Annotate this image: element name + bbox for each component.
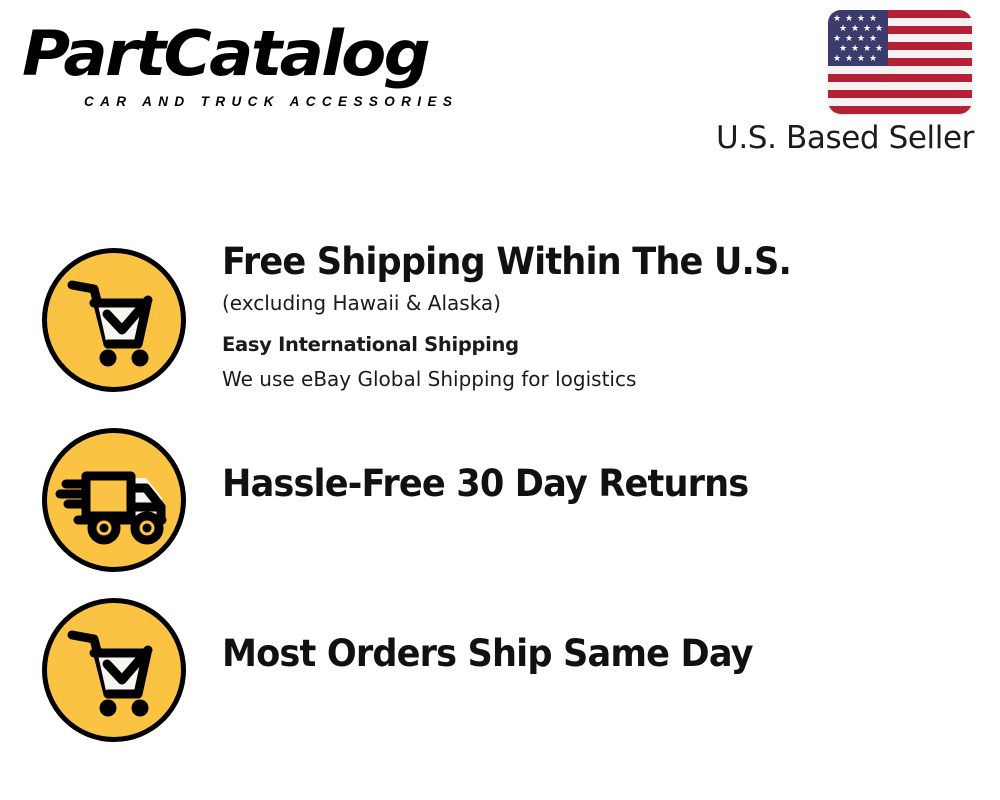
flag-canton: ★ ★ ★ ★ ★ ★ ★ ★ ★ ★ ★ ★ ★ ★ ★ ★ ★ ★ ★ ★ <box>828 10 888 66</box>
feature-subtitle: We use eBay Global Shipping for logistic… <box>222 364 1000 394</box>
brand-wordmark: PartCatalog <box>22 18 428 90</box>
shopping-cart-check-icon <box>42 598 186 742</box>
feature-row: Hassle-Free 30 Day Returns <box>0 410 1000 560</box>
brand-tagline: CAR AND TRUCK ACCESSORIES <box>84 94 458 109</box>
feature-text: Free Shipping Within The U.S. (excluding… <box>222 230 1000 394</box>
feature-icon <box>42 580 192 730</box>
feature-title: Free Shipping Within The U.S. <box>222 240 961 284</box>
feature-title: Most Orders Ship Same Day <box>222 632 961 676</box>
feature-text: Most Orders Ship Same Day <box>222 580 1000 676</box>
feature-subtitle-bold: Easy International Shipping <box>222 330 1000 360</box>
feature-row: Free Shipping Within The U.S. (excluding… <box>0 230 1000 394</box>
feature-icon <box>42 410 192 560</box>
feature-row: Most Orders Ship Same Day <box>0 580 1000 730</box>
delivery-truck-icon <box>42 428 186 572</box>
banner-header: PartCatalog CAR AND TRUCK ACCESSORIES ★ … <box>0 0 1000 175</box>
brand-logo: PartCatalog CAR AND TRUCK ACCESSORIES <box>22 18 492 118</box>
feature-text: Hassle-Free 30 Day Returns <box>222 410 1000 506</box>
seller-badge: ★ ★ ★ ★ ★ ★ ★ ★ ★ ★ ★ ★ ★ ★ ★ ★ ★ ★ ★ ★ <box>716 8 986 158</box>
seller-label: U.S. Based Seller <box>716 120 974 156</box>
feature-subtitle: (excluding Hawaii & Alaska) <box>222 288 1000 318</box>
us-flag-icon: ★ ★ ★ ★ ★ ★ ★ ★ ★ ★ ★ ★ ★ ★ ★ ★ ★ ★ ★ ★ <box>828 10 972 114</box>
feature-title: Hassle-Free 30 Day Returns <box>222 462 961 506</box>
feature-icon <box>42 230 192 380</box>
shopping-cart-check-icon <box>42 248 186 392</box>
